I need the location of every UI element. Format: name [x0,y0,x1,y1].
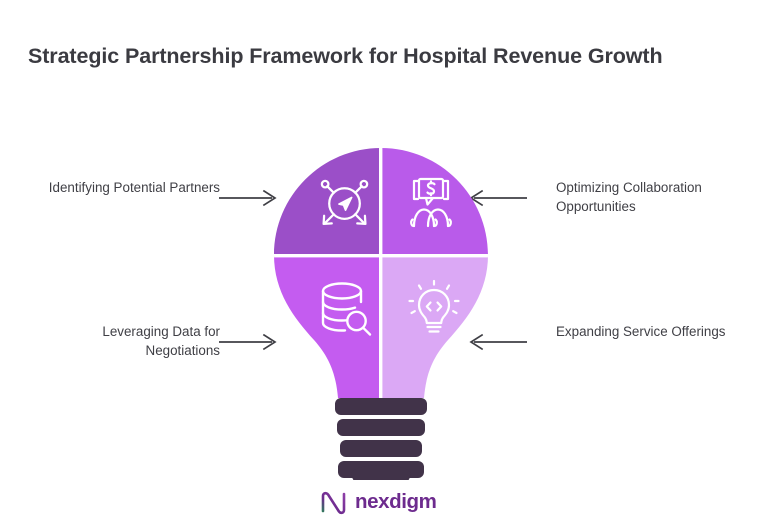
quadrant-bottom-left [256,256,381,416]
quadrant-label-identifying-potential-partners: Identifying Potential Partners [30,178,220,197]
nexdigm-wave-n-icon [320,489,348,515]
logo-wordmark: nexdigm [355,492,437,513]
quadrant-label-leveraging-data-for-negotiations: Leveraging Data for Negotiations [30,322,220,360]
lightbulb-diagram [256,140,506,480]
quadrant-label-expanding-service-offerings: Expanding Service Offerings [556,322,746,341]
quadrant-label-optimizing-collaboration-opportunities: Optimizing Collaboration Opportunities [556,178,746,216]
nexdigm-logo: nexdigm [320,489,437,515]
quadrant-bottom-right [381,256,506,416]
quadrant-top-left [256,140,381,256]
bulb-quadrants [256,140,506,416]
page-title: Strategic Partnership Framework for Hosp… [28,44,662,69]
bulb-screw-base [335,398,427,480]
divider-vertical [379,140,382,416]
divider-horizontal [256,254,506,257]
